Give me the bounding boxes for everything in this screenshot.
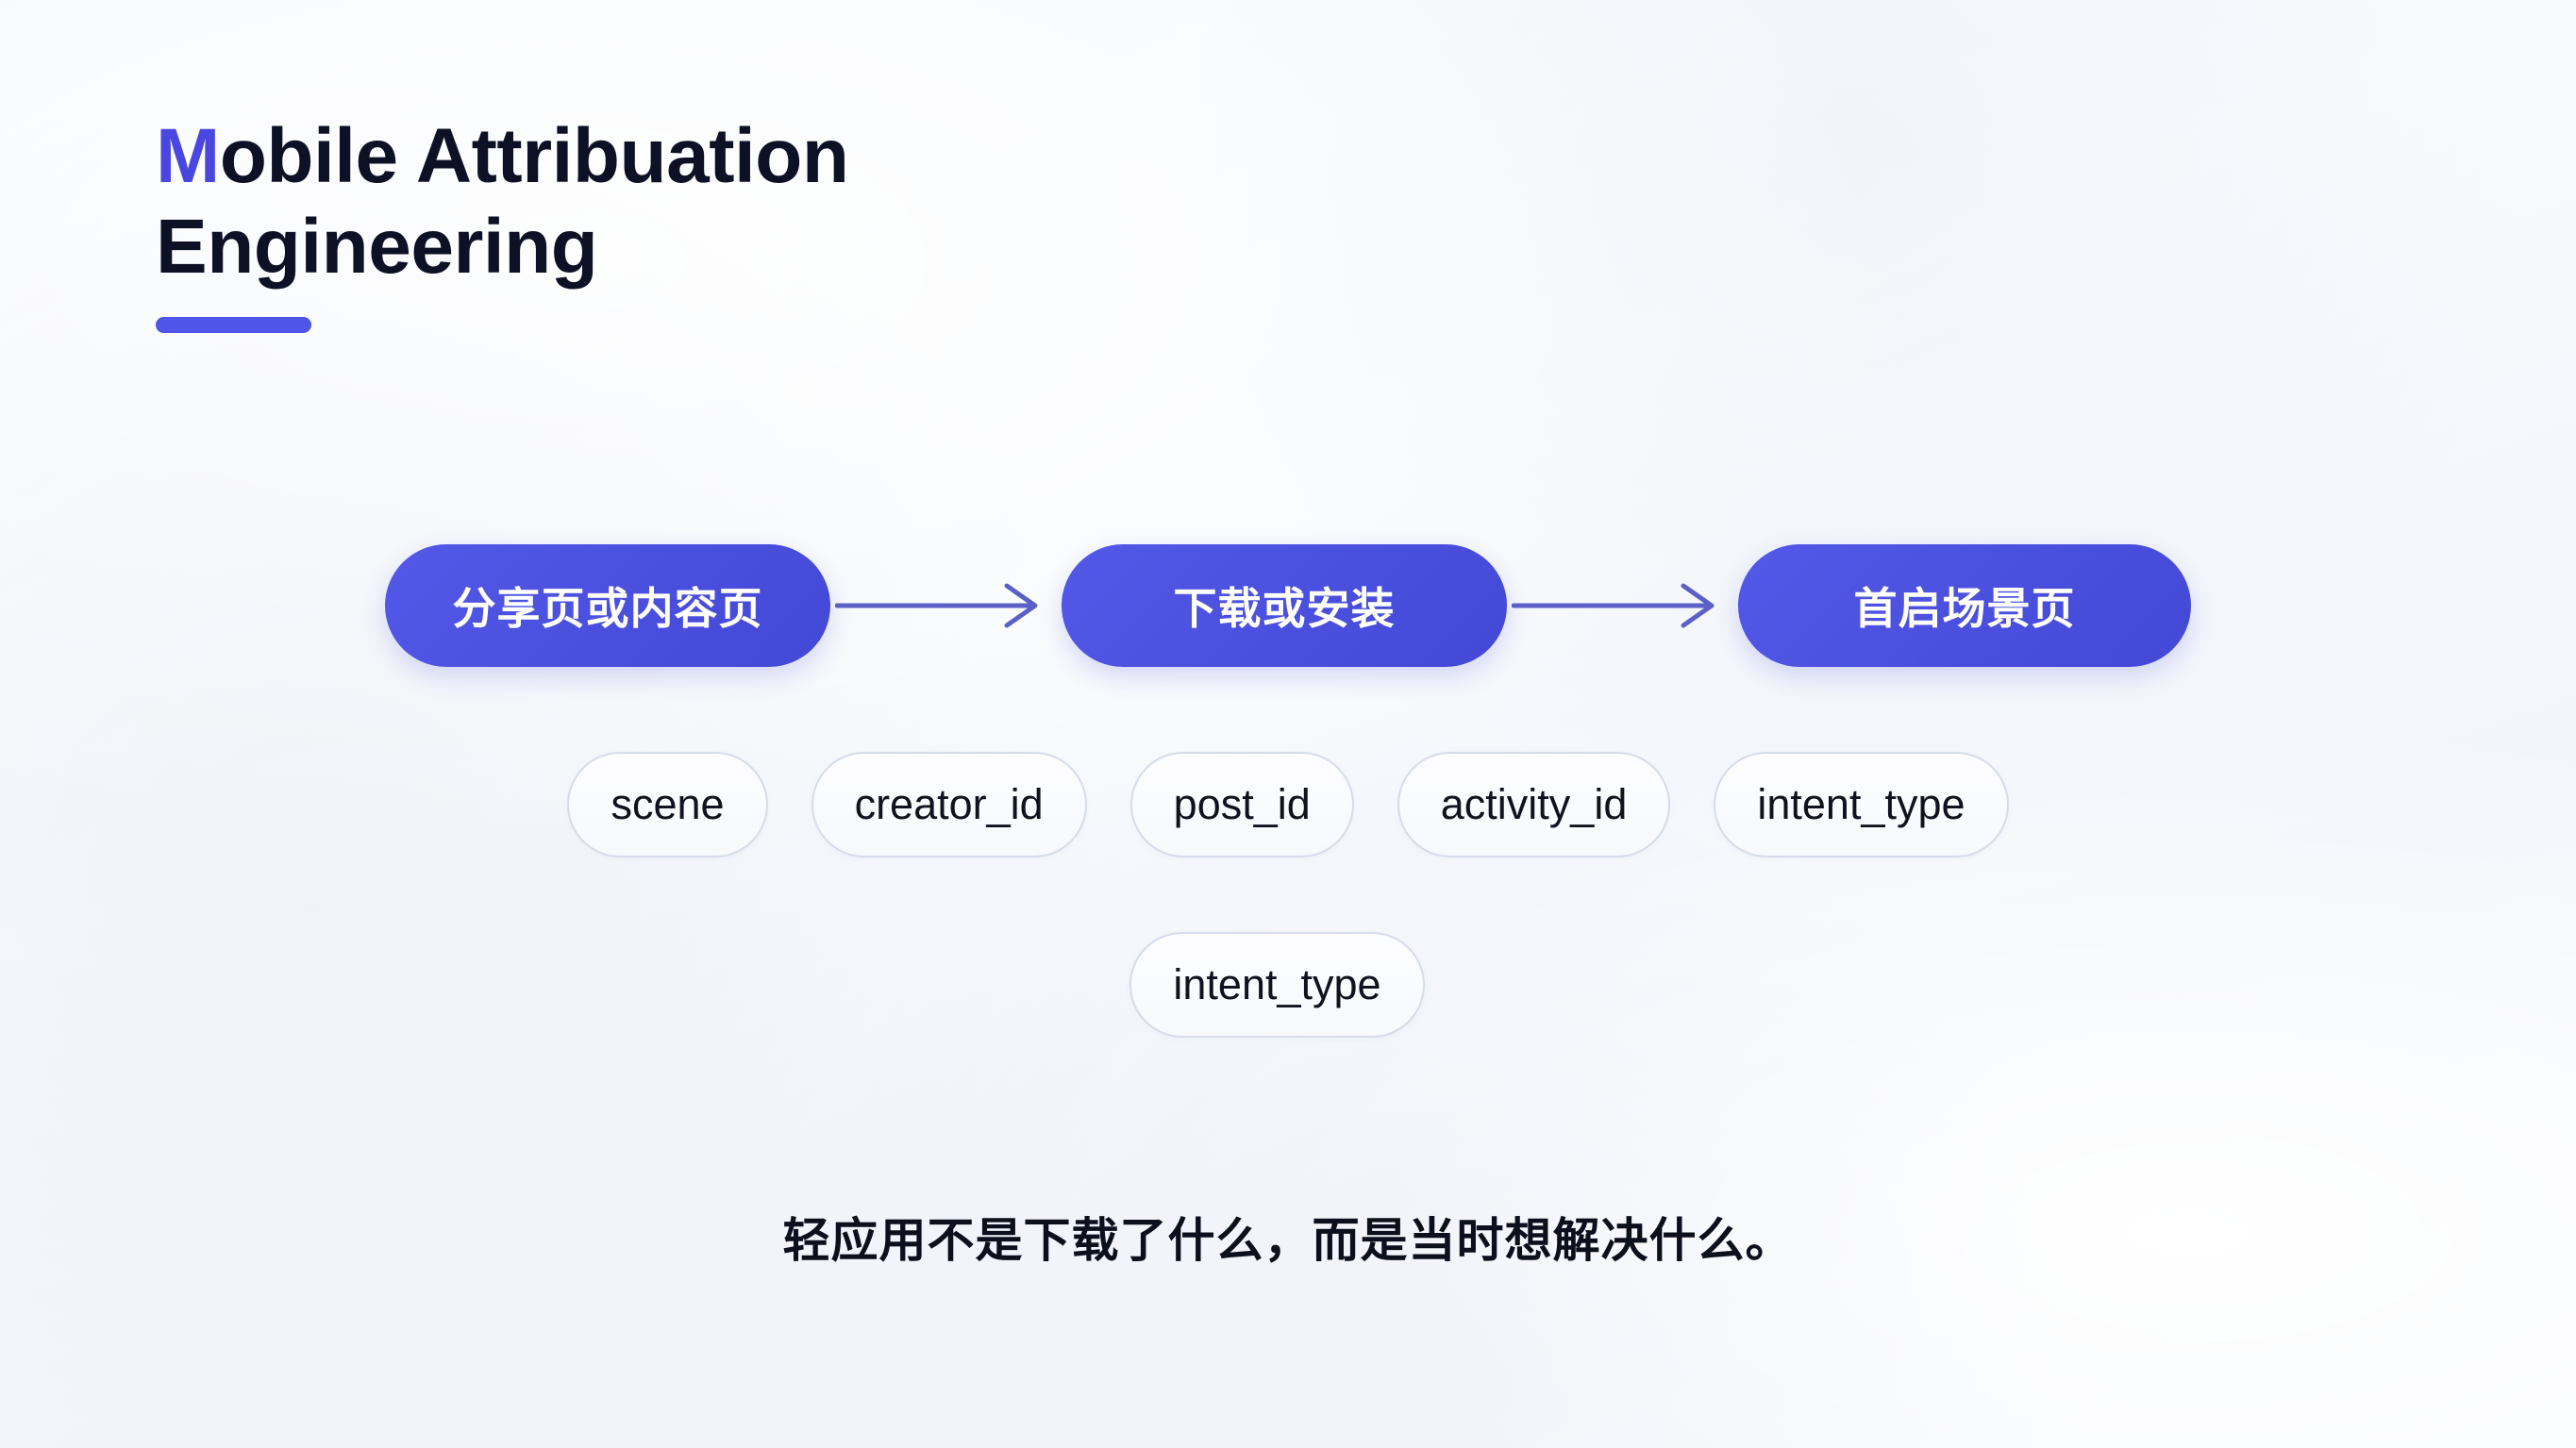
- arrow-right-icon: [830, 577, 1062, 634]
- arrow-right-icon-2: [1507, 577, 1738, 634]
- field-chip-post-id[interactable]: post_id: [1130, 752, 1354, 857]
- flow-step-3[interactable]: 首启场景页: [1738, 544, 2191, 667]
- field-chip-intent-type-secondary[interactable]: intent_type: [1129, 932, 1424, 1038]
- field-chip-intent-type[interactable]: intent_type: [1714, 752, 2008, 857]
- field-chip-activity-id[interactable]: activity_id: [1397, 752, 1671, 857]
- field-chip-scene[interactable]: scene: [567, 752, 767, 857]
- title-line-1-rest: obile Attribuation: [220, 113, 849, 199]
- title-line-2: Engineering: [156, 202, 848, 292]
- page-title: Mobile Attribuation Engineering: [156, 111, 848, 333]
- title-underline-rule: [156, 317, 311, 333]
- slide-caption: 轻应用不是下载了什么，而是当时想解决什么。: [0, 1203, 2576, 1271]
- flow-step-1[interactable]: 分享页或内容页: [385, 544, 830, 667]
- field-chip-row-2: intent_type: [0, 932, 2576, 1038]
- title-accent-letter: M: [156, 113, 220, 199]
- slide-canvas: Mobile Attribuation Engineering 分享页或内容页 …: [0, 0, 2576, 1448]
- title-line-1: Mobile Attribuation: [156, 111, 848, 202]
- flow-step-2[interactable]: 下载或安装: [1062, 544, 1507, 667]
- flow-diagram: 分享页或内容页 下载或安装 首启场景页: [0, 540, 2576, 672]
- field-chip-row-1: scene creator_id post_id activity_id int…: [0, 752, 2576, 857]
- field-chip-creator-id[interactable]: creator_id: [811, 752, 1087, 857]
